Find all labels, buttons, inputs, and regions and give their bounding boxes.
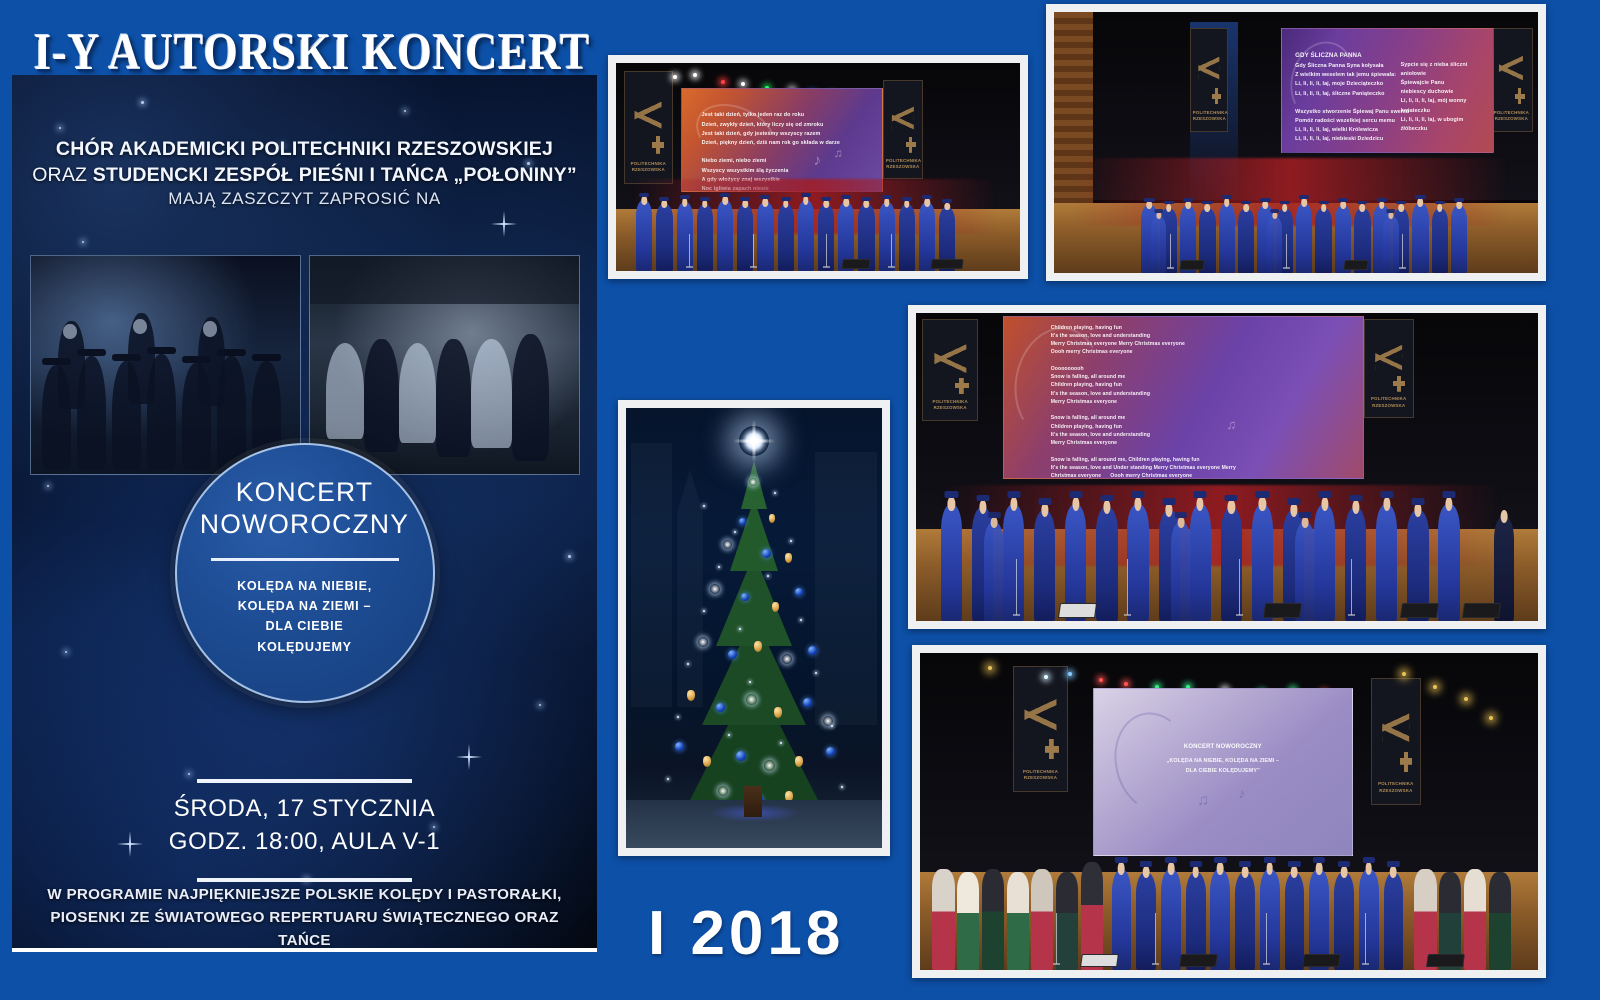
photo-concert-warm-screen: POLITECHNIKA RZESZOWSKA POLITECHNIKA RZE…: [608, 55, 1028, 279]
photo-concert-3-image: POLITECHNIKA RZESZOWSKA POLITECHNIKA RZE…: [916, 313, 1538, 621]
program-line1: W PROGRAMIE NAJPIĘKNIEJSZE POLSKIE KOLĘD…: [34, 883, 575, 906]
program-line2: PIOSENKI ZE ŚWIATOWEGO REPERTUARU ŚWIĄTE…: [34, 906, 575, 952]
stage-scene: POLITECHNIKA RZESZOWSKA POLITECHNIKA RZE…: [920, 653, 1538, 970]
poster-header-line1: CHÓR AKADEMICKI POLITECHNIKI RZESZOWSKIE…: [12, 137, 597, 163]
folk-dancer: [932, 869, 954, 970]
folk-dancer: [1489, 872, 1511, 970]
photo-concert-sliczna-panna: POLITECHNIKA RZESZOWSKA POLITECHNIKA RZE…: [1046, 4, 1546, 281]
photo-christmas-tree: [618, 400, 890, 856]
tree-star-topper: [739, 426, 769, 456]
folk-dancer: [957, 872, 979, 970]
poster-circle-emblem: KONCERT NOWOROCZNY KOLĘDA NA NIEBIE, KOL…: [175, 443, 435, 703]
folk-dancer: [1464, 869, 1486, 970]
photo-concert-2-image: POLITECHNIKA RZESZOWSKA POLITECHNIKA RZE…: [1054, 12, 1538, 273]
choir-group: [616, 63, 1020, 271]
choir-group: [1054, 12, 1538, 273]
poster-header-line3: MAJĄ ZASZCZYT ZAPROSIĆ NA: [12, 188, 597, 210]
date-divider-bottom: [197, 878, 412, 882]
venue-line: GODZ. 18:00, AULA V-1: [12, 828, 597, 867]
circle-subtitle-line4: KOLĘDUJEMY: [257, 637, 351, 657]
poster-program-text: W PROGRAMIE NAJPIĘKNIEJSZE POLSKIE KOLĘD…: [34, 883, 575, 952]
folk-dancer: [1056, 872, 1078, 970]
stage-scene: POLITECHNIKA RZESZOWSKA POLITECHNIKA RZE…: [1054, 12, 1538, 273]
folk-dancer: [1007, 872, 1029, 970]
photo-concert-4-image: POLITECHNIKA RZESZOWSKA POLITECHNIKA RZE…: [920, 653, 1538, 970]
collage-year-label: I 2018: [648, 898, 928, 968]
poster-header-line2-prefix: ORAZ: [32, 164, 93, 186]
circle-title-line2: NOWOROCZNY: [200, 509, 409, 541]
poster-header-line2: ORAZ STUDENCKI ZESPÓŁ PIEŚNI I TAŃCA „PO…: [12, 163, 597, 189]
choir-group: [916, 313, 1538, 621]
folk-dancer: [1031, 869, 1053, 970]
poster-photo-choir: [30, 255, 301, 475]
choir-and-folk-group: [920, 653, 1538, 970]
stage-scene: POLITECHNIKA RZESZOWSKA POLITECHNIKA RZE…: [916, 313, 1538, 621]
stage-scene: POLITECHNIKA RZESZOWSKA POLITECHNIKA RZE…: [616, 63, 1020, 271]
poster-header: CHÓR AKADEMICKI POLITECHNIKI RZESZOWSKIE…: [12, 137, 597, 211]
poster-photo-dancers: [309, 255, 580, 475]
folk-dancer: [982, 869, 1004, 970]
concert-poster: CHÓR AKADEMICKI POLITECHNIKI RZESZOWSKIE…: [12, 75, 597, 952]
circle-subtitle-line3: DLA CIEBIE: [266, 616, 344, 636]
circle-subtitle-line2: KOLĘDA NA ZIEMI –: [238, 596, 371, 616]
photo-concert-merry-christmas: POLITECHNIKA RZESZOWSKA POLITECHNIKA RZE…: [908, 305, 1546, 629]
circle-subtitle-line1: KOLĘDA NA NIEBIE,: [237, 576, 372, 596]
circle-divider: [211, 558, 399, 561]
circle-title-line1: KONCERT: [236, 477, 373, 509]
photo-concert-finale: POLITECHNIKA RZESZOWSKA POLITECHNIKA RZE…: [912, 645, 1546, 978]
photo-concert-1-image: POLITECHNIKA RZESZOWSKA POLITECHNIKA RZE…: [616, 63, 1020, 271]
poster-date-block: ŚRODA, 17 STYCZNIA GODZ. 18:00, AULA V-1: [12, 779, 597, 882]
poster-header-line2-bold: STUDENCKI ZESPÓŁ PIEŚNI I TAŃCA „POŁONIN…: [93, 164, 577, 186]
photo-tree-image: [626, 408, 882, 848]
poster-photo-pair: [30, 255, 580, 475]
night-sky-background: [626, 408, 882, 848]
date-line: ŚRODA, 17 STYCZNIA: [12, 783, 597, 828]
